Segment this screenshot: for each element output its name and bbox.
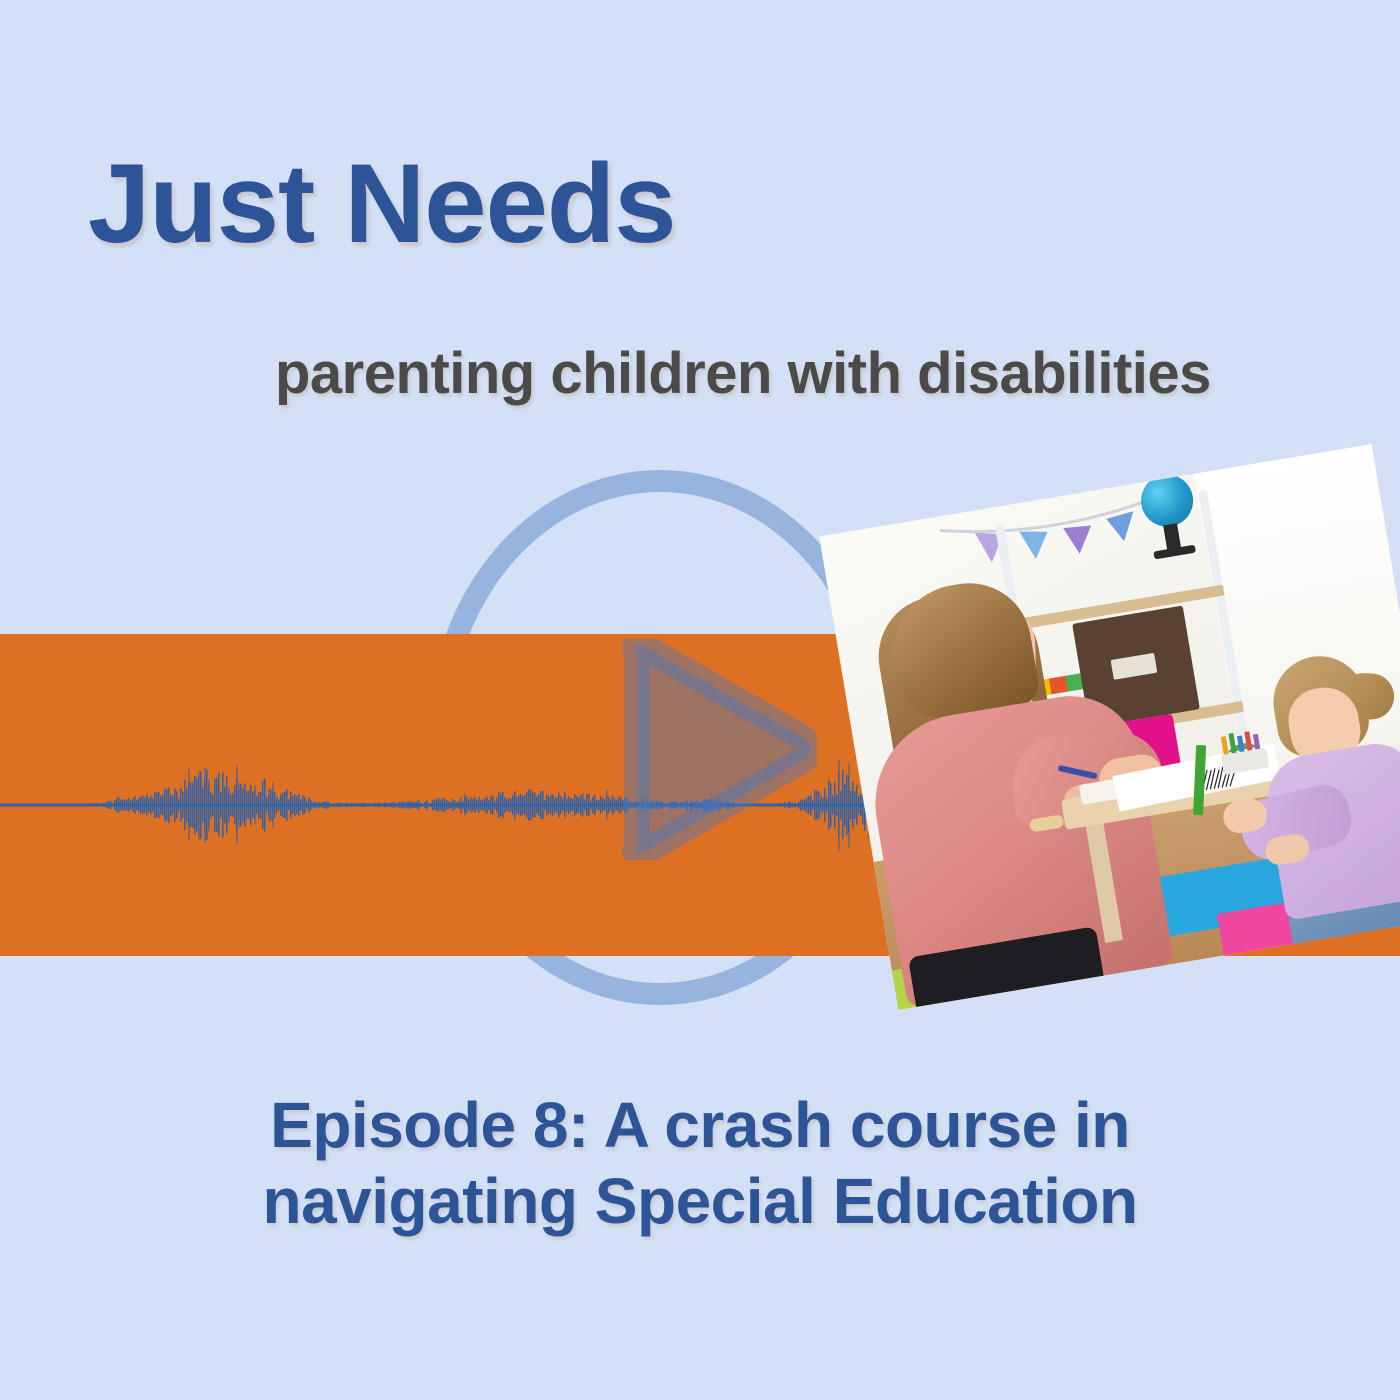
photo-pencil-cup <box>1218 728 1270 775</box>
episode-photo <box>819 444 1400 1010</box>
episode-title-line-1: Episode 8: A crash course in <box>0 1088 1400 1164</box>
play-icon <box>617 639 817 860</box>
page-title: Just Needs <box>88 148 676 260</box>
podcast-cover-art: Just Needs parenting children with disab… <box>0 0 1400 1400</box>
episode-title: Episode 8: A crash course in navigating … <box>0 1088 1400 1239</box>
episode-title-line-2: navigating Special Education <box>0 1164 1400 1240</box>
page-subtitle: parenting children with disabilities <box>275 345 1211 403</box>
